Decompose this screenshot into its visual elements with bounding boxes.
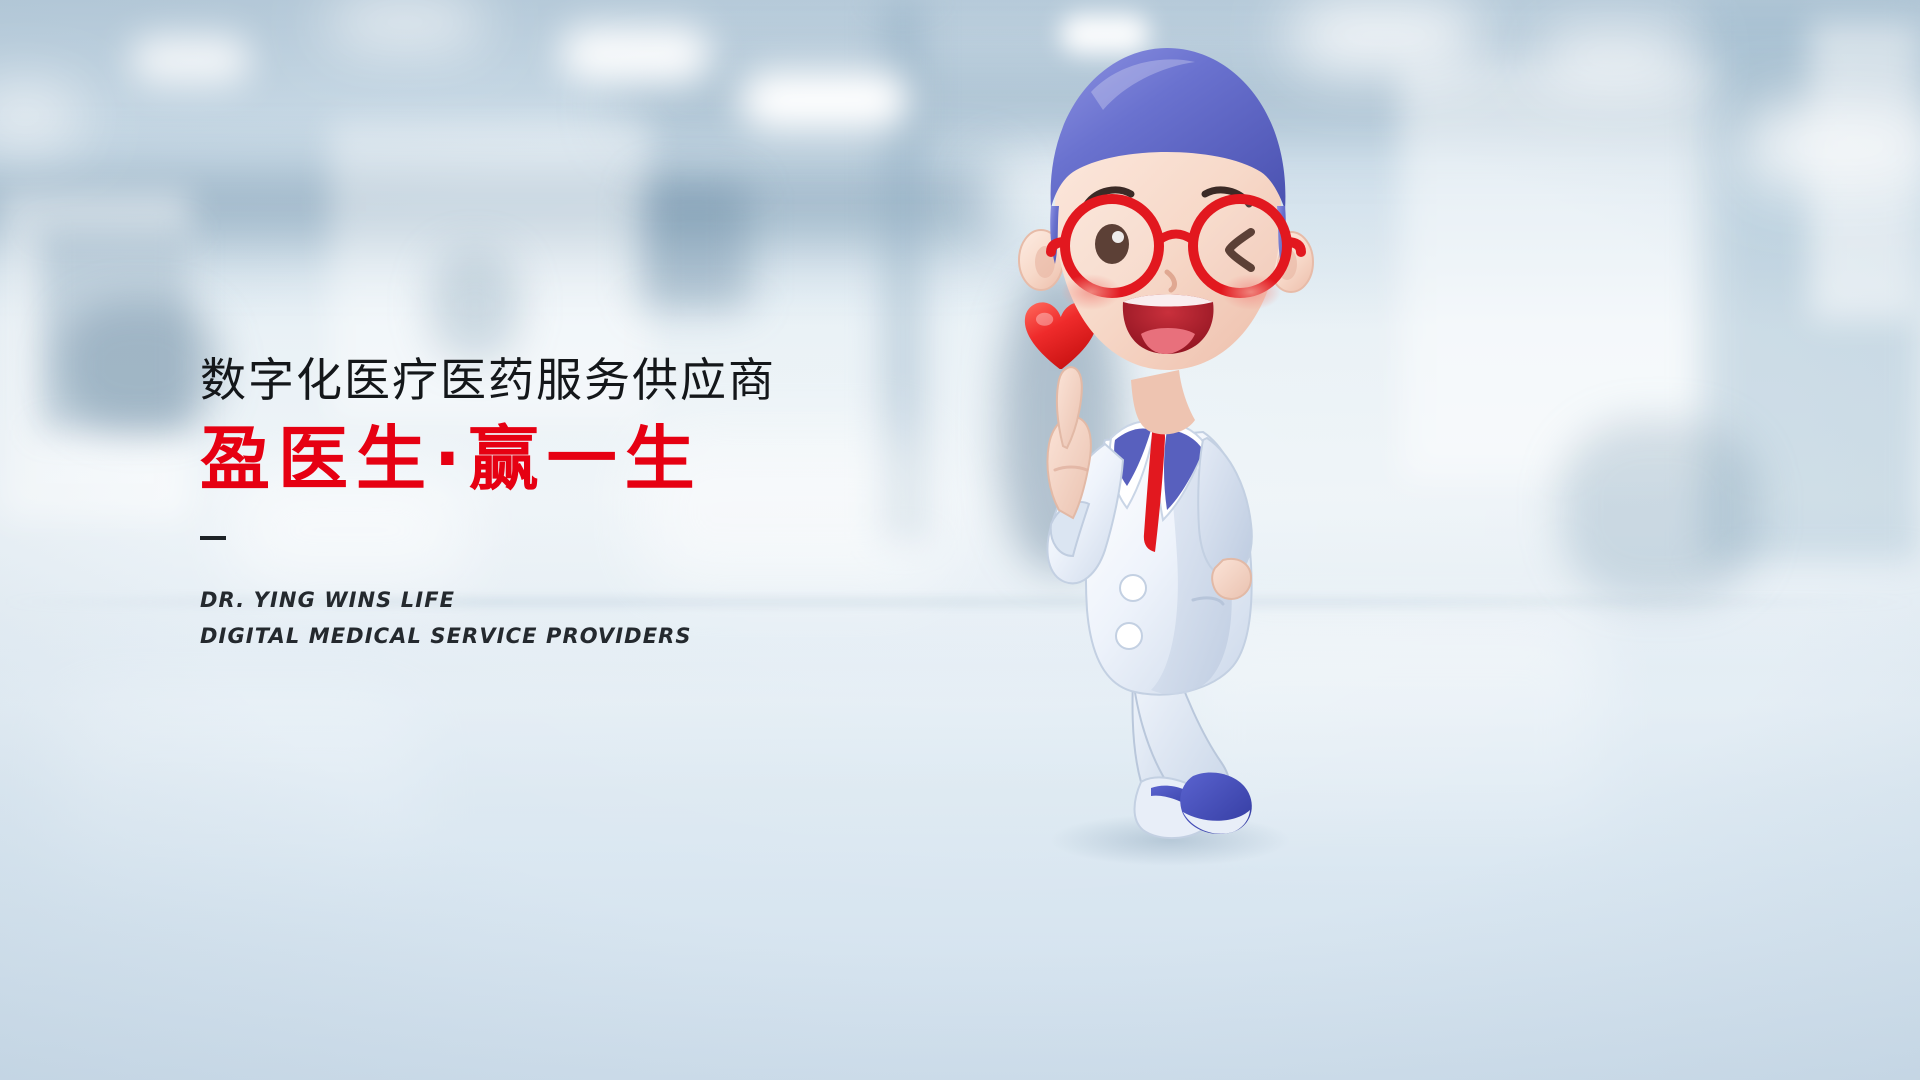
- hero-subtitle-line-2: DIGITAL MEDICAL SERVICE PROVIDERS: [200, 618, 900, 654]
- mascot-blush-right: [1221, 274, 1281, 310]
- mascot-shoes: [1135, 772, 1252, 838]
- hero-subtitle-line-1: DR. YING WINS LIFE: [200, 582, 900, 618]
- mascot-coat-button: [1120, 575, 1146, 601]
- hero-text-block: 数字化医疗医药服务供应商 盈医生·赢一生 DR. YING WINS LIFE …: [200, 356, 900, 654]
- mascot-doctor: [955, 40, 1375, 860]
- hero-tagline: 盈医生·赢一生: [200, 422, 900, 496]
- mascot-sleeve-lower: [1198, 438, 1252, 576]
- hero-subtitle-en: DR. YING WINS LIFE DIGITAL MEDICAL SERVI…: [200, 582, 900, 654]
- page-title: 数字化医疗医药服务供应商: [200, 356, 900, 406]
- hero-banner: 数字化医疗医药服务供应商 盈医生·赢一生 DR. YING WINS LIFE …: [0, 0, 1920, 1080]
- mascot-coat-button: [1116, 623, 1142, 649]
- divider-dash: [200, 536, 226, 540]
- heart-highlight: [1036, 313, 1053, 326]
- mascot-hand-lower: [1212, 559, 1251, 599]
- mascot-blush-left: [1061, 274, 1121, 310]
